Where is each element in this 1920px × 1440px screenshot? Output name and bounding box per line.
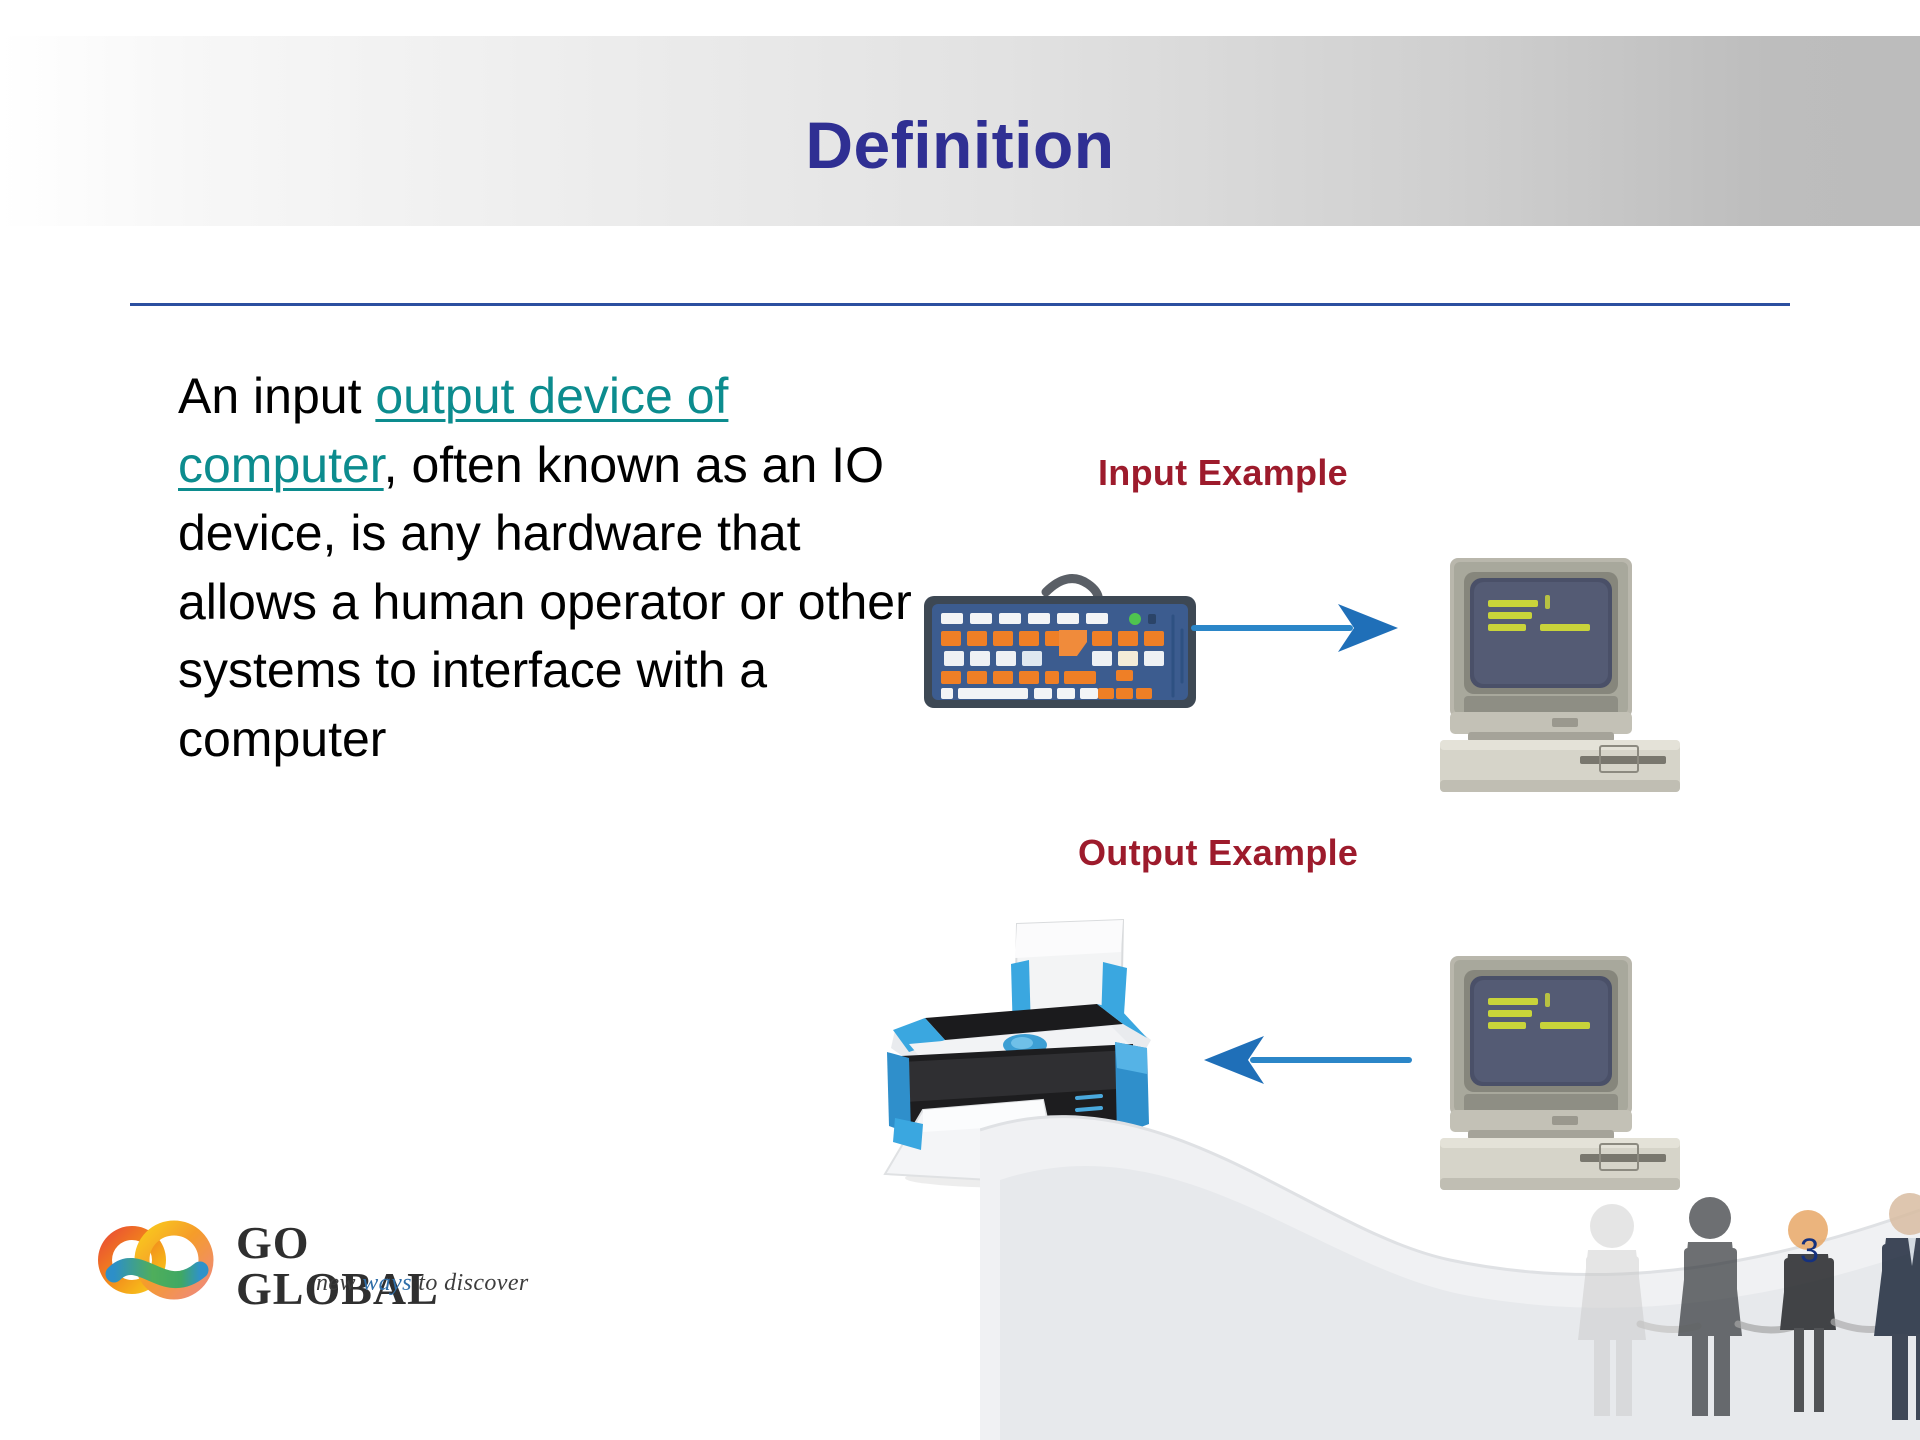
- slide-canvas: Definition An input output device of com…: [0, 0, 1920, 1440]
- logo-tagline-accent: ways: [362, 1270, 412, 1296]
- logo-wordmark: GO GLOBAL: [236, 1220, 498, 1312]
- input-example-caption: Input Example: [1098, 452, 1348, 494]
- printer-icon: [865, 912, 1165, 1192]
- title-divider: [130, 303, 1790, 306]
- logo-tagline: new ways to discover: [316, 1270, 529, 1297]
- page-title: Definition: [0, 112, 1920, 178]
- go-global-mark-icon: [78, 1208, 228, 1312]
- arrow-right-icon: [1190, 598, 1405, 658]
- arrow-left-icon: [1198, 1030, 1413, 1090]
- logo-tagline-part-2: to discover: [412, 1270, 529, 1296]
- definition-text-lead: An input: [178, 368, 375, 424]
- brand-logo: GO GLOBAL new ways to discover: [78, 1208, 498, 1318]
- page-number: 3: [1800, 1232, 1819, 1271]
- computer-monitor-icon: [1440, 938, 1702, 1198]
- logo-tagline-part-1: new: [316, 1270, 362, 1296]
- output-example-caption: Output Example: [1078, 832, 1358, 874]
- keyboard-icon: [920, 520, 1200, 715]
- definition-paragraph: An input output device of computer, ofte…: [178, 362, 938, 773]
- computer-monitor-icon: [1440, 540, 1702, 800]
